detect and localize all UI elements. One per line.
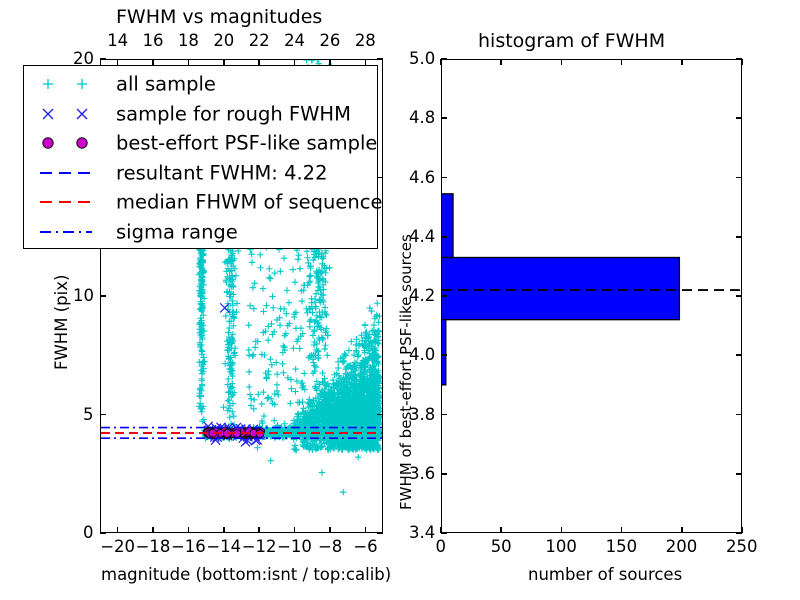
x-ticklabel: −6 bbox=[353, 539, 377, 556]
y-tick bbox=[441, 295, 447, 297]
top-x-ticklabel: 16 bbox=[143, 33, 164, 50]
left-plot-title: FWHM vs magnitudes bbox=[116, 8, 322, 27]
legend-item-all-sample: all sample bbox=[24, 69, 377, 99]
x-tick bbox=[188, 527, 190, 533]
x-ticklabel: 100 bbox=[545, 539, 577, 556]
y-tick-right-mirror bbox=[736, 236, 742, 238]
legend-item-label: all sample bbox=[116, 74, 216, 94]
x-tick bbox=[117, 527, 119, 533]
legend-marker-dashed-line-icon bbox=[30, 188, 110, 216]
legend-item-label: resultant FWHM: 4.22 bbox=[116, 163, 328, 183]
legend-item-sigma-range: sigma range bbox=[24, 217, 377, 247]
y-tick bbox=[441, 414, 447, 416]
y-tick-right-mirror bbox=[377, 414, 383, 416]
legend-item-label: sample for rough FWHM bbox=[116, 104, 351, 124]
x-tick bbox=[365, 527, 367, 533]
y-tick bbox=[441, 473, 447, 475]
right-plot-title: histogram of FWHM bbox=[478, 32, 665, 51]
histogram-bar bbox=[442, 320, 446, 385]
top-x-ticklabel: 18 bbox=[178, 33, 199, 50]
y-tick-right-mirror bbox=[736, 532, 742, 534]
legend-item-median-fhwm-of-sequence: median FHWM of sequence bbox=[24, 187, 377, 217]
y-ticklabel: 10 bbox=[73, 288, 94, 305]
legend-marker-dashdot-line-icon bbox=[30, 218, 110, 246]
x-tick-top-mirror bbox=[681, 59, 683, 65]
y-tick-right-mirror bbox=[377, 58, 383, 60]
y-ticklabel: 0 bbox=[83, 525, 94, 542]
left-plot-xlabel: magnitude (bottom:isnt / top:calib) bbox=[101, 567, 391, 584]
legend-item-label: sigma range bbox=[116, 222, 238, 242]
x-tick bbox=[561, 527, 563, 533]
x-ticklabel: −10 bbox=[277, 539, 312, 556]
y-tick bbox=[441, 354, 447, 356]
legend-item-best-effort-psf-like-sample: best-effort PSF-like sample bbox=[24, 128, 377, 158]
y-tick-right-mirror bbox=[736, 473, 742, 475]
right-plot-xlabel: number of sources bbox=[528, 567, 682, 584]
x-ticklabel: −12 bbox=[242, 539, 277, 556]
legend-marker-dot-icon bbox=[30, 129, 110, 157]
y-tick bbox=[100, 532, 106, 534]
legend-marker-dashed-line-icon bbox=[30, 159, 110, 187]
x-tick-top-mirror bbox=[621, 59, 623, 65]
x-tick bbox=[152, 527, 154, 533]
legend-item-sample-for-rough-fwhm: sample for rough FWHM bbox=[24, 99, 377, 129]
y-tick bbox=[441, 58, 447, 60]
histogram-bar bbox=[442, 257, 679, 319]
legend-marker-plus-icon bbox=[30, 70, 110, 98]
top-x-ticklabel: 22 bbox=[249, 33, 270, 50]
legend-item-label: median FHWM of sequence bbox=[116, 192, 382, 212]
left-plot-ylabel: FWHM (pix) bbox=[54, 275, 71, 370]
x-tick-top-mirror bbox=[440, 59, 442, 65]
top-x-ticklabel: 28 bbox=[355, 33, 376, 50]
top-x-ticklabel: 26 bbox=[319, 33, 340, 50]
y-tick bbox=[441, 236, 447, 238]
x-ticklabel: 50 bbox=[491, 539, 512, 556]
top-x-ticklabel: 20 bbox=[213, 33, 234, 50]
x-ticklabel: 0 bbox=[436, 539, 447, 556]
x-ticklabel: −8 bbox=[318, 539, 342, 556]
top-x-ticklabel: 24 bbox=[284, 33, 305, 50]
top-x-ticklabel: 14 bbox=[107, 33, 128, 50]
x-tick-top-mirror bbox=[500, 59, 502, 65]
y-tick-right-mirror bbox=[736, 177, 742, 179]
x-ticklabel: −20 bbox=[100, 539, 135, 556]
y-tick-right-mirror bbox=[736, 414, 742, 416]
rough-fwhm-points bbox=[203, 303, 264, 446]
y-tick-right-mirror bbox=[377, 532, 383, 534]
y-tick-right-mirror bbox=[736, 295, 742, 297]
legend: all samplesample for rough FWHMbest-effo… bbox=[23, 65, 378, 249]
x-ticklabel: 250 bbox=[726, 539, 758, 556]
figure-canvas: FWHM vs magnitudes 1416182022242628 −20−… bbox=[0, 0, 800, 600]
x-tick bbox=[500, 527, 502, 533]
y-tick bbox=[100, 414, 106, 416]
legend-item-resultant-fwhm-4-22: resultant FWHM: 4.22 bbox=[24, 158, 377, 188]
x-tick bbox=[621, 527, 623, 533]
y-ticklabel: 4.8 bbox=[409, 110, 435, 127]
y-tick-right-mirror bbox=[736, 117, 742, 119]
y-tick-right-mirror bbox=[377, 295, 383, 297]
y-tick bbox=[441, 532, 447, 534]
y-tick bbox=[100, 58, 106, 60]
x-tick-top-mirror bbox=[741, 59, 743, 65]
x-tick bbox=[258, 527, 260, 533]
y-tick-right-mirror bbox=[736, 354, 742, 356]
y-ticklabel: 4.6 bbox=[409, 170, 435, 187]
legend-item-label: best-effort PSF-like sample bbox=[116, 133, 377, 153]
y-ticklabel: 5 bbox=[83, 407, 94, 424]
y-tick bbox=[100, 295, 106, 297]
x-tick bbox=[294, 527, 296, 533]
y-tick-right-mirror bbox=[736, 58, 742, 60]
x-ticklabel: 200 bbox=[666, 539, 698, 556]
x-tick-top-mirror bbox=[561, 59, 563, 65]
legend-marker-cross-icon bbox=[30, 100, 110, 128]
x-ticklabel: −16 bbox=[171, 539, 206, 556]
histogram-bar bbox=[442, 194, 453, 258]
right-plot-ylabel: FWHM of best-effort PSF-like sources bbox=[399, 234, 414, 510]
y-tick bbox=[441, 177, 447, 179]
right-plot-data-area bbox=[442, 60, 741, 532]
x-tick bbox=[223, 527, 225, 533]
x-ticklabel: −14 bbox=[206, 539, 241, 556]
y-tick bbox=[441, 117, 447, 119]
x-tick bbox=[329, 527, 331, 533]
x-ticklabel: −18 bbox=[136, 539, 171, 556]
x-ticklabel: 150 bbox=[606, 539, 638, 556]
y-ticklabel: 5.0 bbox=[409, 51, 435, 68]
x-tick bbox=[681, 527, 683, 533]
y-ticklabel: 3.4 bbox=[409, 525, 435, 542]
